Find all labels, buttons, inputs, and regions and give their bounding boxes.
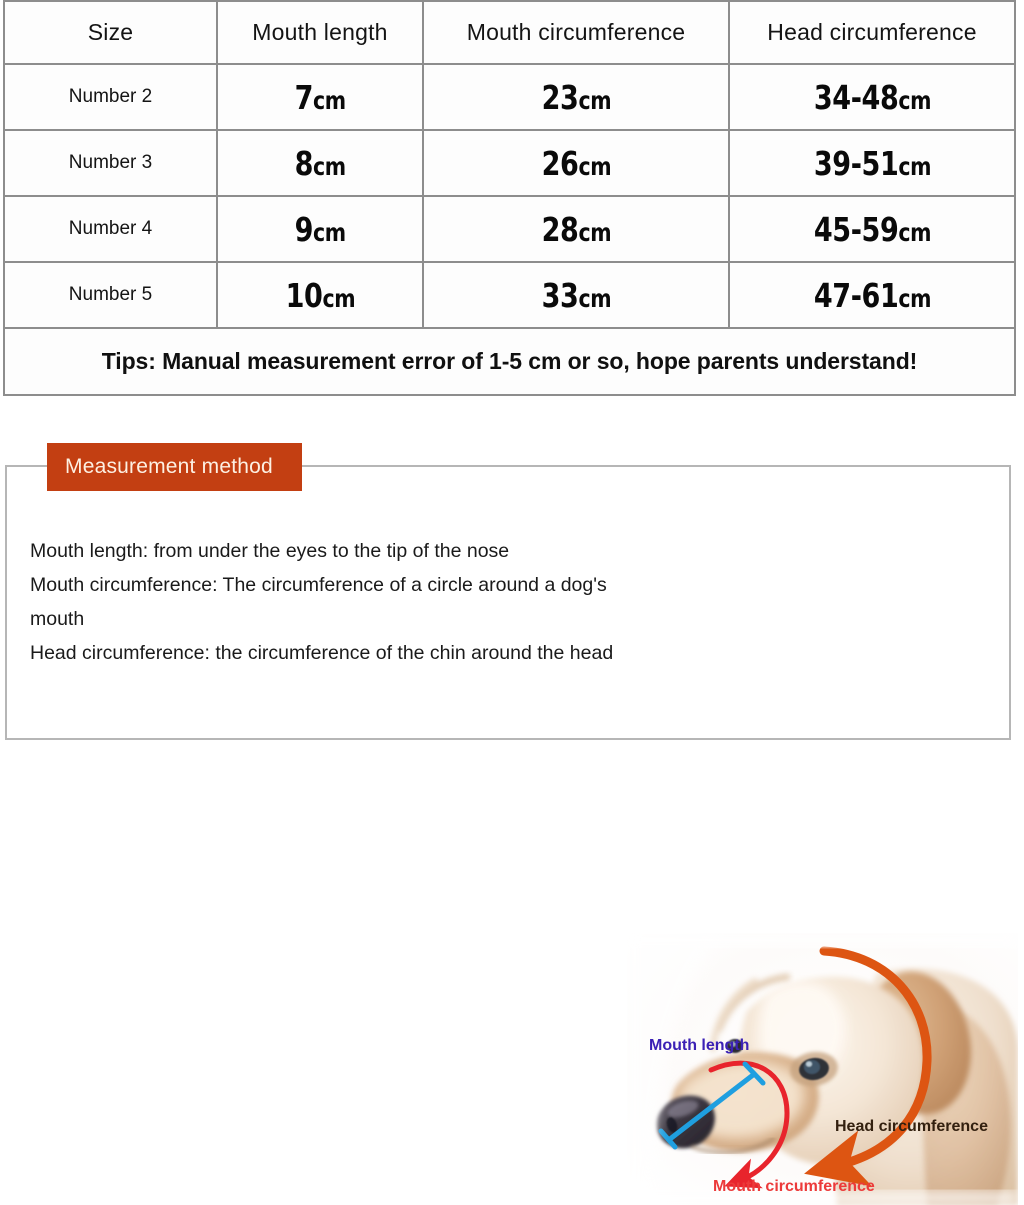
dog-measurement-figure: Mouth length Head circumference Mouth ci… bbox=[627, 933, 1018, 1205]
cell-head-circumference-value: 47-61cm bbox=[813, 276, 930, 315]
cell-mouth-length: 10cm bbox=[217, 262, 423, 328]
annotation-mouth-circumference: Mouth circumference bbox=[713, 1178, 875, 1196]
cell-size: Number 4 bbox=[4, 196, 217, 262]
cell-mouth-circumference: 28cm bbox=[423, 196, 729, 262]
table-row: Number 4 9cm 28cm 45-59cm bbox=[4, 196, 1015, 262]
annotation-mouth-length: Mouth length bbox=[649, 1037, 749, 1055]
cell-tips: Tips: Manual measurement error of 1-5 cm… bbox=[4, 328, 1015, 395]
cell-mouth-length-value: 9cm bbox=[294, 210, 345, 249]
table-row: Number 3 8cm 26cm 39-51cm bbox=[4, 130, 1015, 196]
description-line-mouth-length: Mouth length: from under the eyes to the… bbox=[30, 534, 630, 568]
cell-size-label: Number 3 bbox=[69, 152, 152, 173]
cell-mouth-circumference-value: 33cm bbox=[541, 276, 611, 315]
size-chart-table: Size Mouth length Mouth circumference He… bbox=[3, 0, 1016, 396]
description-line-head-circumference: Head circumference: the circumference of… bbox=[30, 636, 630, 670]
cell-mouth-length-value: 7cm bbox=[294, 78, 345, 117]
cell-mouth-circumference: 23cm bbox=[423, 64, 729, 130]
measurement-method-badge: Measurement method bbox=[47, 443, 302, 491]
column-header-size-label: Size bbox=[88, 19, 134, 45]
cell-mouth-circumference-value: 28cm bbox=[541, 210, 611, 249]
cell-head-circumference-value: 39-51cm bbox=[813, 144, 930, 183]
cell-mouth-length-value: 10cm bbox=[285, 276, 355, 315]
cell-head-circumference: 39-51cm bbox=[729, 130, 1015, 196]
column-header-mouth-circumference: Mouth circumference bbox=[423, 1, 729, 64]
cell-mouth-length-value: 8cm bbox=[294, 144, 345, 183]
cell-size: Number 3 bbox=[4, 130, 217, 196]
cell-size: Number 5 bbox=[4, 262, 217, 328]
table-row: Number 5 10cm 33cm 47-61cm bbox=[4, 262, 1015, 328]
column-header-size: Size bbox=[4, 1, 217, 64]
description-line-mouth-circumference: Mouth circumference: The circumference o… bbox=[30, 568, 630, 636]
cell-head-circumference-value: 45-59cm bbox=[813, 210, 930, 249]
cell-head-circumference-value: 34-48cm bbox=[813, 78, 930, 117]
cell-head-circumference: 45-59cm bbox=[729, 196, 1015, 262]
cell-mouth-length: 8cm bbox=[217, 130, 423, 196]
cell-mouth-circumference-value: 26cm bbox=[541, 144, 611, 183]
cell-size-label: Number 5 bbox=[69, 284, 152, 305]
cell-head-circumference: 34-48cm bbox=[729, 64, 1015, 130]
cell-mouth-length: 9cm bbox=[217, 196, 423, 262]
column-header-mouth-circumference-label: Mouth circumference bbox=[467, 19, 686, 45]
column-header-mouth-length-label: Mouth length bbox=[252, 19, 387, 45]
table-tips-row: Tips: Manual measurement error of 1-5 cm… bbox=[4, 328, 1015, 395]
cell-mouth-circumference: 33cm bbox=[423, 262, 729, 328]
cell-size: Number 2 bbox=[4, 64, 217, 130]
measurement-description-block: Mouth length: from under the eyes to the… bbox=[30, 534, 630, 670]
column-header-head-circumference-label: Head circumference bbox=[767, 19, 976, 45]
cell-head-circumference: 47-61cm bbox=[729, 262, 1015, 328]
cell-mouth-circumference-value: 23cm bbox=[541, 78, 611, 117]
size-chart-table-container: Size Mouth length Mouth circumference He… bbox=[3, 0, 1014, 388]
cell-mouth-length: 7cm bbox=[217, 64, 423, 130]
column-header-mouth-length: Mouth length bbox=[217, 1, 423, 64]
table-header-row: Size Mouth length Mouth circumference He… bbox=[4, 1, 1015, 64]
table-row: Number 2 7cm 23cm 34-48cm bbox=[4, 64, 1015, 130]
dog-photo-illustration bbox=[627, 933, 1018, 1205]
cell-size-label: Number 4 bbox=[69, 218, 152, 239]
tips-text: Tips: Manual measurement error of 1-5 cm… bbox=[102, 348, 917, 374]
cell-mouth-circumference: 26cm bbox=[423, 130, 729, 196]
column-header-head-circumference: Head circumference bbox=[729, 1, 1015, 64]
annotation-head-circumference: Head circumference bbox=[835, 1118, 988, 1136]
measurement-method-badge-label: Measurement method bbox=[65, 455, 273, 479]
cell-size-label: Number 2 bbox=[69, 86, 152, 107]
